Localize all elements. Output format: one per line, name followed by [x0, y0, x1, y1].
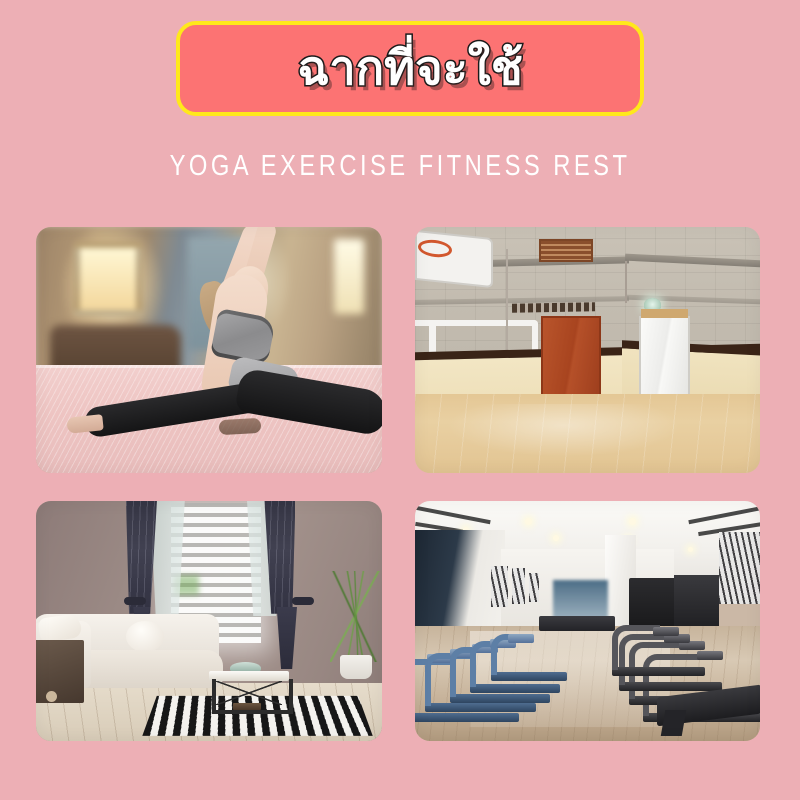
mid-bench-row: [539, 616, 615, 630]
potted-plant-leaves: [330, 571, 382, 662]
shadow-under-knee: [219, 418, 262, 435]
white-double-door: [639, 316, 690, 397]
wall-light-icon: [334, 239, 364, 314]
photo-card-yoga: [36, 227, 382, 473]
wall-art: [719, 532, 760, 604]
subtitle-text: YOGA EXERCISE FITNESS REST: [72, 150, 728, 183]
photo-card-gymnasium: [415, 227, 760, 473]
side-cabinet: [36, 640, 84, 702]
round-cushion: [126, 621, 164, 652]
light-cord: [625, 261, 627, 303]
living-room-scene: [36, 501, 382, 741]
title-banner: ฉากที่จะใช้: [176, 21, 644, 116]
floor-reflection: [443, 404, 685, 458]
wall-vent-icon: [539, 239, 593, 262]
wall-art: [529, 573, 539, 602]
curtain-tieback-right: [292, 597, 314, 605]
wall-lamp-icon: [74, 242, 142, 316]
curtain-tieback-left: [124, 597, 146, 605]
stacked-books: [233, 703, 261, 710]
basketball-backboard: [415, 230, 493, 288]
treadmill: [612, 626, 705, 676]
fitness-gym-scene: [415, 501, 760, 741]
cabinet-knob-icon: [46, 691, 57, 702]
ceiling-downlight-icon: [688, 547, 693, 552]
page-title: ฉากที่จะใช้: [297, 45, 522, 92]
wall-art: [491, 566, 508, 607]
photo-card-living-room: [36, 501, 382, 741]
promo-page: ฉากที่จะใช้ YOGA EXERCISE FITNESS REST: [0, 0, 800, 800]
ceiling-downlight-icon: [553, 535, 559, 541]
plant-pot: [340, 655, 371, 679]
yoga-scene: [36, 227, 382, 473]
far-equipment-area: [553, 580, 608, 621]
wall-art: [512, 568, 526, 604]
gymnasium-scene: [415, 227, 760, 473]
wall-sign: [512, 303, 595, 313]
ceiling-downlight-icon: [629, 518, 636, 525]
photo-card-fitness-gym: [415, 501, 760, 741]
basketball-hoop-icon: [418, 239, 452, 260]
treadmill: [491, 631, 567, 681]
coffee-table-cross-brace: [216, 681, 282, 705]
equipment-rack: [674, 575, 719, 628]
weight-rack: [629, 578, 677, 626]
